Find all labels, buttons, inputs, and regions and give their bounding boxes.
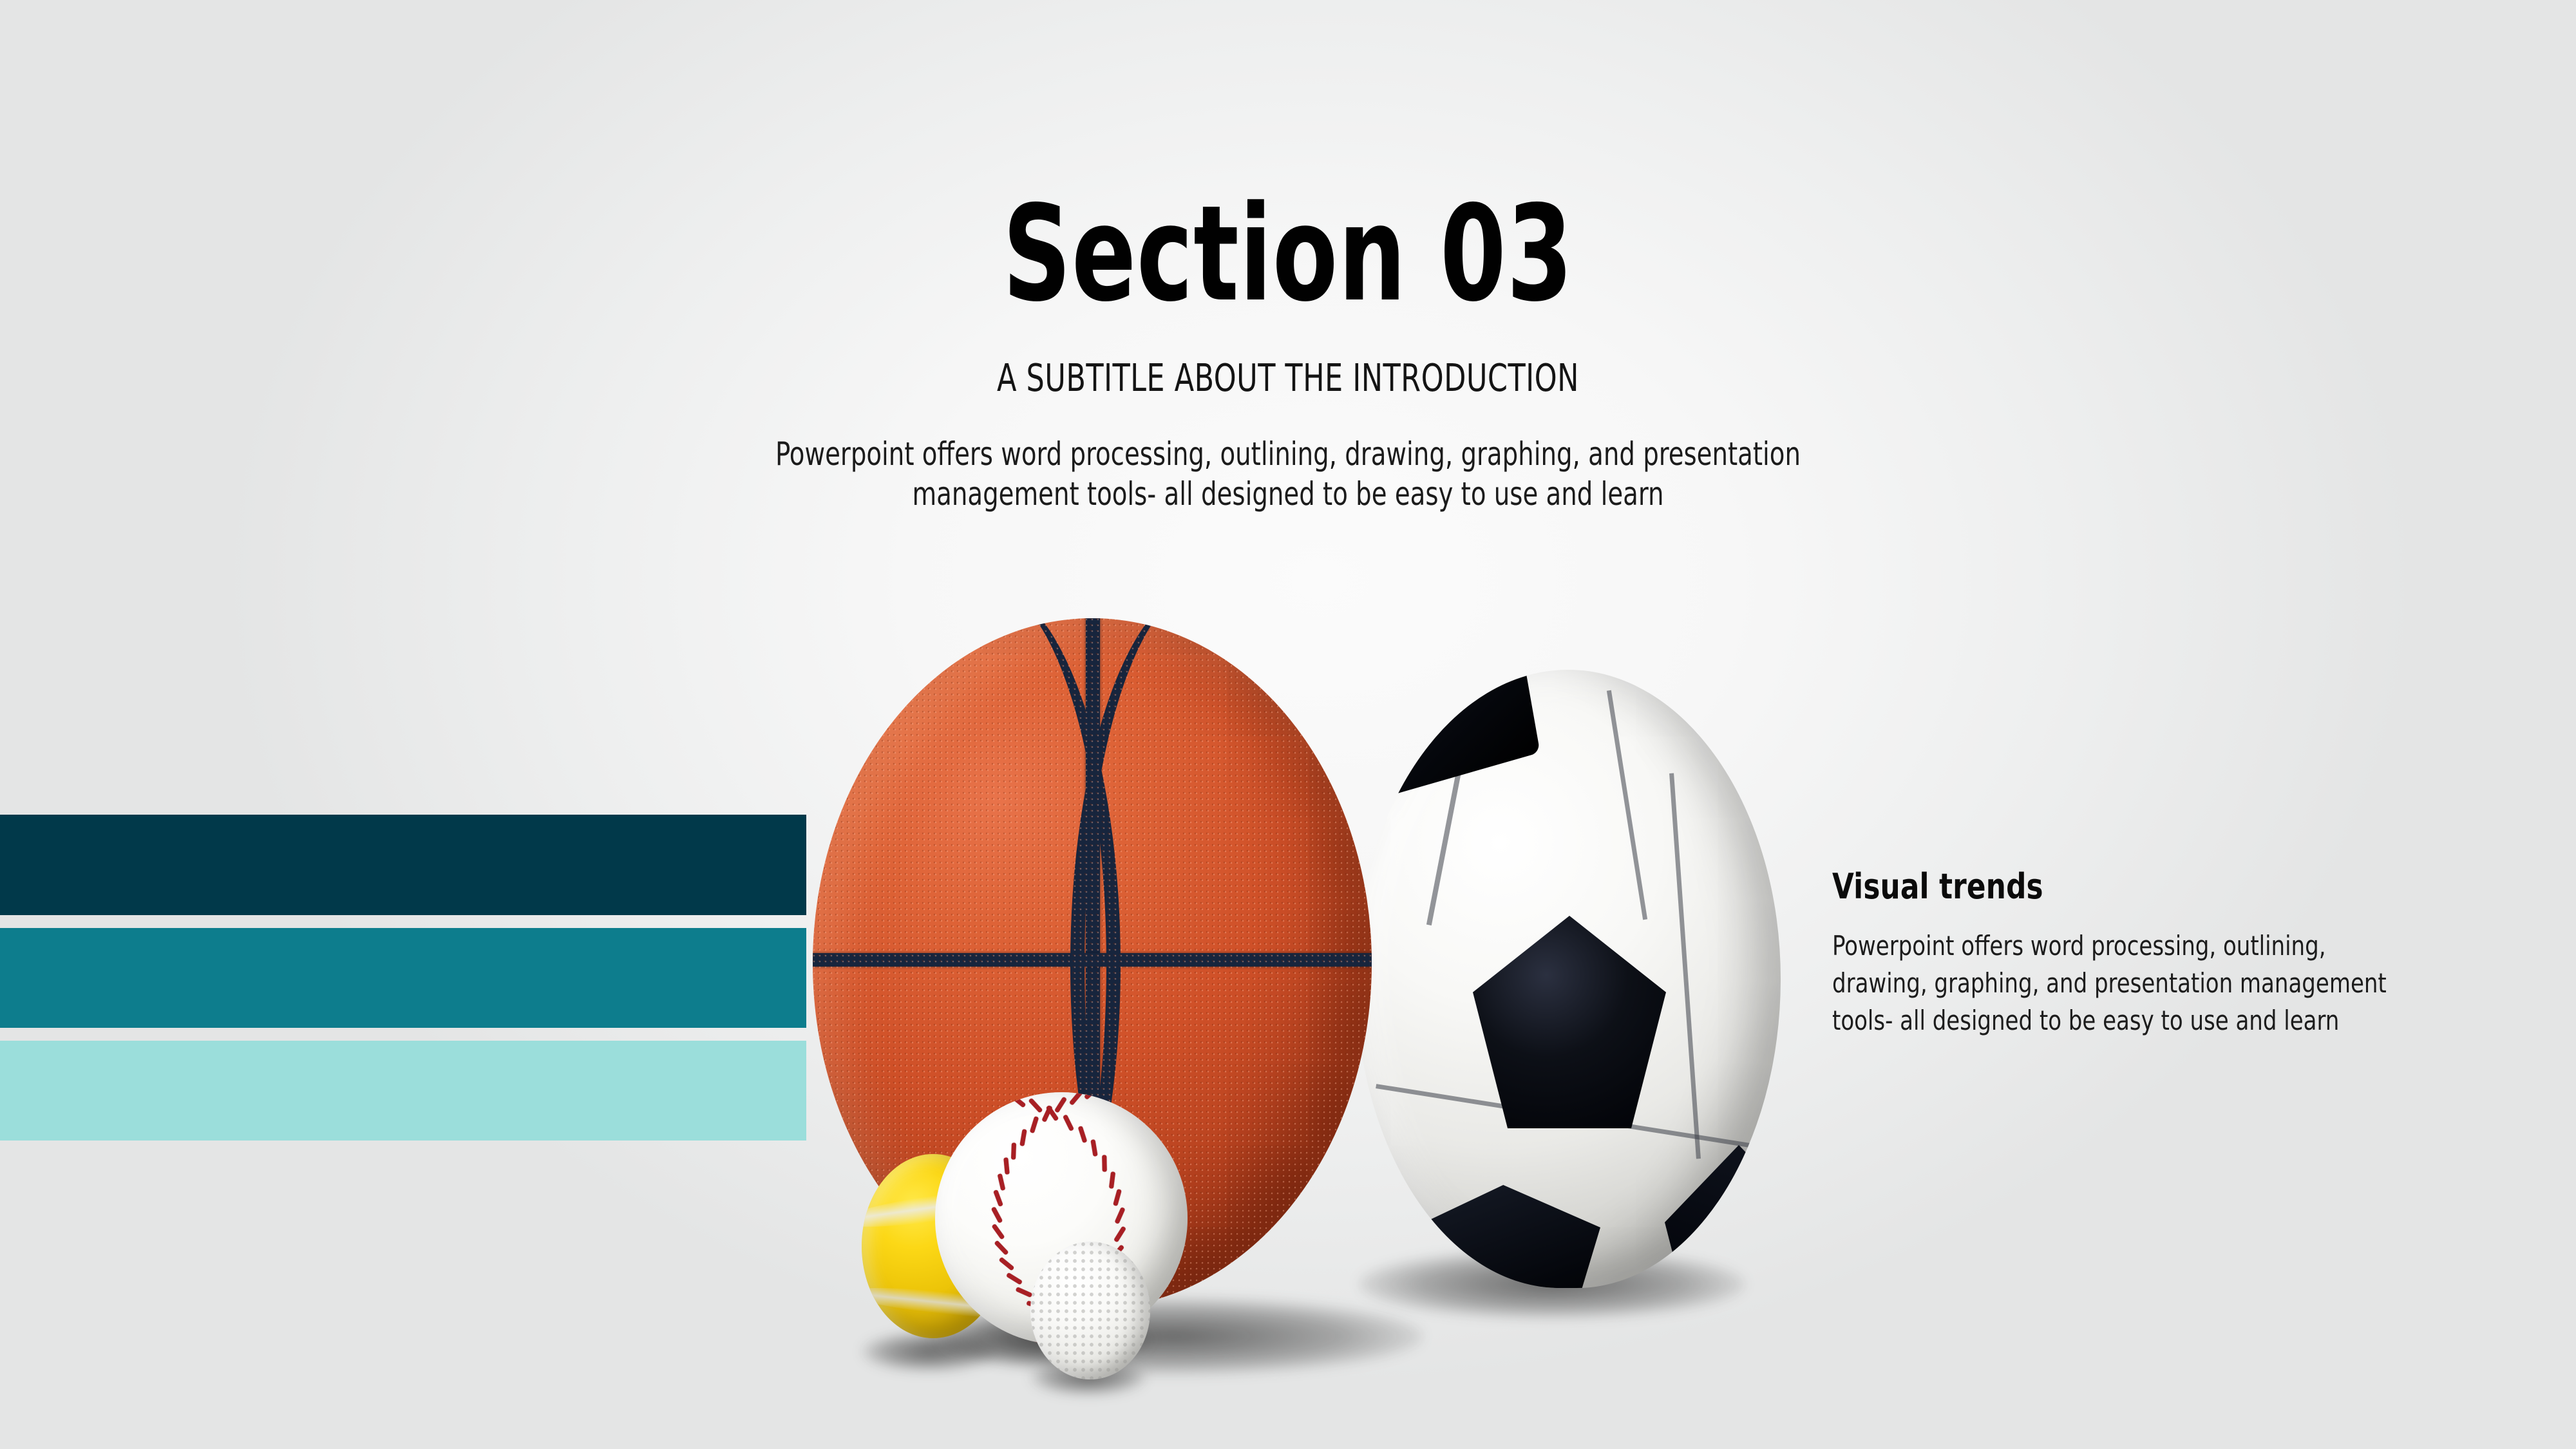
slide-subtitle: A SUBTITLE ABOUT THE INTRODUCTION	[206, 358, 2370, 398]
baseball-stitch	[1030, 1116, 1039, 1133]
baseball-stitch	[1063, 1114, 1074, 1131]
soccer-seam	[1607, 690, 1647, 920]
baseball-stitch	[1006, 1273, 1023, 1285]
side-text-block: Visual trends Powerpoint offers word pro…	[1832, 868, 2425, 1039]
baseball-stitch	[1054, 1097, 1067, 1113]
baseball-stitch	[994, 1240, 1009, 1256]
baseball-stitch	[1109, 1171, 1115, 1189]
side-body-paragraph: Powerpoint offers word processing, outli…	[1832, 927, 2418, 1039]
soccer-ball-icon	[1356, 670, 1781, 1288]
accent-stripe-light	[0, 1041, 806, 1141]
baseball-stitch	[1113, 1189, 1122, 1206]
lead-line-1: Powerpoint offers word processing, outli…	[180, 434, 2396, 474]
baseball-stitch	[1069, 1092, 1083, 1105]
baseball-stitch	[1028, 1098, 1043, 1113]
baseball-stitch	[1114, 1226, 1127, 1242]
baseball-stitch	[991, 1207, 1003, 1224]
side-heading: Visual trends	[1832, 868, 2365, 905]
slide-canvas: Section 03 A SUBTITLE ABOUT THE INTRODUC…	[0, 0, 2576, 1449]
baseball-stitch	[1003, 1158, 1009, 1175]
soccer-pentagon	[1665, 1145, 1781, 1288]
baseball-stitch	[1019, 1129, 1027, 1146]
baseball-stitch	[997, 1173, 1005, 1191]
baseball-stitch	[1115, 1207, 1126, 1224]
baseball-stitch	[1102, 1155, 1107, 1171]
lead-line-2: management tools- all designed to be eas…	[180, 474, 2396, 514]
sports-balls-image	[708, 599, 1868, 1391]
accent-stripe-dark	[0, 815, 806, 915]
slide-lead-paragraph: Powerpoint offers word processing, outli…	[180, 434, 2396, 514]
basketball-seam	[813, 953, 1372, 967]
soccer-pentagon	[1356, 670, 1540, 813]
baseball-stitch	[1011, 1143, 1016, 1160]
baseball-stitch	[1015, 1287, 1032, 1298]
baseball-stitch	[1091, 1139, 1098, 1157]
golf-ball-icon	[1030, 1242, 1150, 1379]
slide-title: Section 03	[258, 193, 2318, 316]
baseball-stitch	[1077, 1126, 1087, 1143]
soccer-pentagon	[1414, 1185, 1600, 1288]
baseball-stitch	[991, 1224, 1005, 1240]
accent-stripe-mid	[0, 928, 806, 1028]
soccer-seam	[1669, 773, 1701, 1159]
soccer-pentagon	[1473, 916, 1666, 1128]
baseball-stitch	[999, 1256, 1015, 1271]
baseball-stitch	[993, 1189, 1003, 1207]
header-text-group: Section 03 A SUBTITLE ABOUT THE INTRODUC…	[0, 0, 2576, 514]
